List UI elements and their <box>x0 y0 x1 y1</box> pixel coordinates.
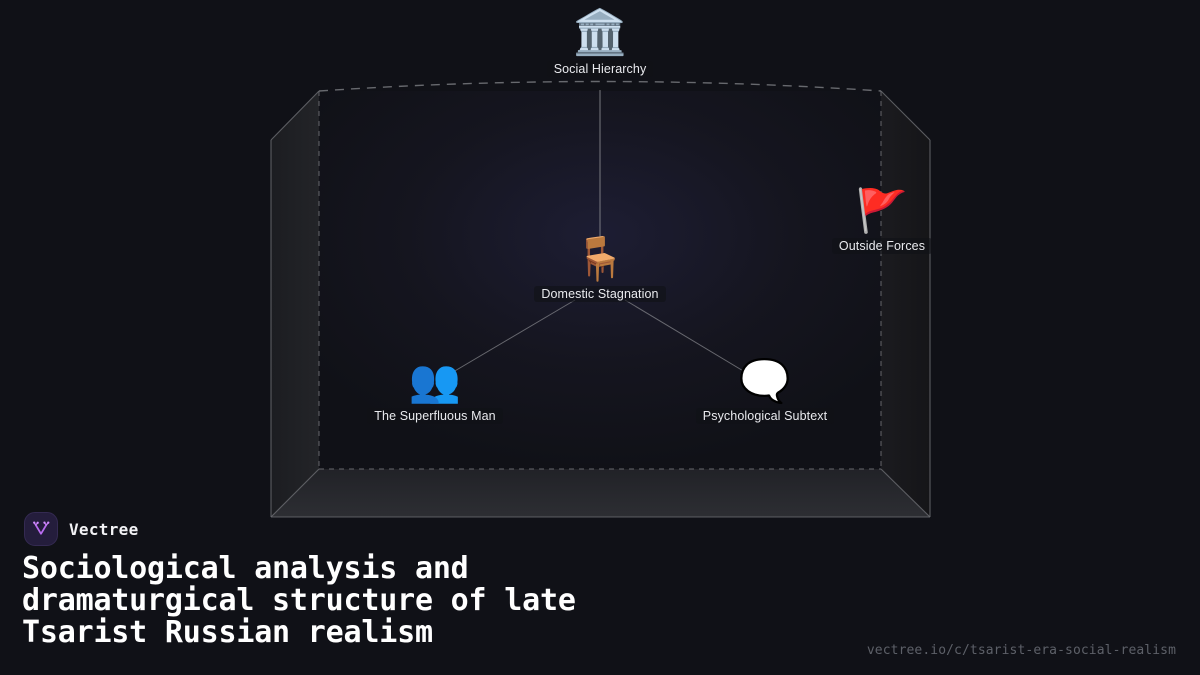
node-label-psychological-subtext: Psychological Subtext <box>696 408 834 424</box>
chair-icon: 🪑 <box>574 238 626 280</box>
node-psychological-subtext[interactable]: 🗨️ Psychological Subtext <box>655 360 875 424</box>
red-flag-icon: 🚩 <box>856 190 908 232</box>
node-label-the-superfluous-man: The Superfluous Man <box>367 408 502 424</box>
node-label-domestic-stagnation: Domestic Stagnation <box>534 286 665 302</box>
share-url: vectree.io/c/tsarist-era-social-realism <box>867 643 1176 658</box>
node-the-superfluous-man[interactable]: 👥 The Superfluous Man <box>325 360 545 424</box>
brand-lockup[interactable]: Vectree <box>24 512 139 546</box>
room-right-wall <box>881 91 930 517</box>
node-label-outside-forces: Outside Forces <box>832 238 932 254</box>
node-outside-forces[interactable]: 🚩 Outside Forces <box>772 190 992 254</box>
node-label-social-hierarchy: Social Hierarchy <box>547 61 654 77</box>
page-title: Sociological analysis and dramaturgical … <box>22 553 782 649</box>
node-domestic-stagnation[interactable]: 🪑 Domestic Stagnation <box>490 238 710 302</box>
speech-balloon-icon: 🗨️ <box>739 360 791 402</box>
room-back-top-edge <box>319 82 881 92</box>
vectree-logo-icon <box>24 512 58 546</box>
node-social-hierarchy[interactable]: 🏛️ Social Hierarchy <box>490 11 710 77</box>
brand-name: Vectree <box>69 520 139 539</box>
room-left-wall <box>271 91 319 517</box>
busts-in-silhouette-icon: 👥 <box>409 360 461 402</box>
room-floor <box>271 469 930 517</box>
classical-building-icon: 🏛️ <box>573 11 628 55</box>
